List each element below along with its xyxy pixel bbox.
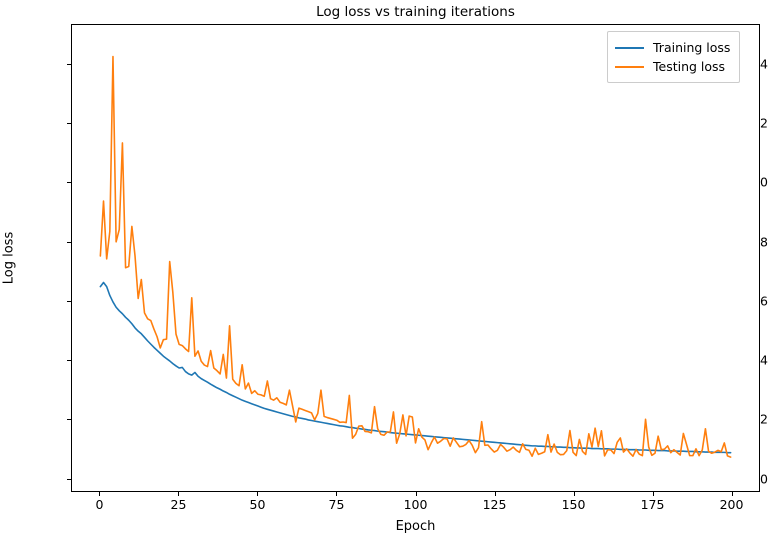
x-axis-tick-label: 25 — [148, 497, 208, 512]
legend-swatch-testing-loss — [615, 66, 644, 68]
x-axis-tick-label: 175 — [623, 497, 683, 512]
plot-lines — [72, 25, 759, 491]
page-title: Log loss vs training iterations — [71, 4, 760, 20]
x-axis-tick-label: 75 — [306, 497, 366, 512]
series-line-training-loss — [100, 282, 730, 452]
legend[interactable]: Training loss Testing loss — [607, 31, 740, 83]
x-axis-tick-mark — [653, 492, 654, 496]
y-axis-label-container: Log loss — [0, 24, 18, 492]
legend-item-training-loss[interactable]: Training loss — [615, 38, 730, 57]
x-axis-label: Epoch — [71, 519, 760, 534]
x-axis-tick-mark — [416, 492, 417, 496]
legend-swatch-training-loss — [615, 47, 644, 49]
x-axis-tick-mark — [99, 492, 100, 496]
x-axis-tick-mark — [574, 492, 575, 496]
x-axis-tick-mark — [178, 492, 179, 496]
series-line-testing-loss — [100, 57, 730, 458]
plot-area — [71, 24, 760, 492]
y-axis-label: Log loss — [2, 232, 17, 284]
x-axis-tick-label: 200 — [702, 497, 762, 512]
figure-canvas: Log loss vs training iterations Log loss… — [0, 0, 768, 547]
legend-item-testing-loss[interactable]: Testing loss — [615, 57, 730, 76]
legend-label-testing-loss: Testing loss — [653, 59, 725, 74]
x-axis-tick-mark — [732, 492, 733, 496]
x-axis-tick-label: 150 — [544, 497, 604, 512]
x-axis-tick-label: 50 — [227, 497, 287, 512]
x-axis-tick-mark — [336, 492, 337, 496]
x-axis-tick-label: 0 — [69, 497, 129, 512]
x-axis-tick-mark — [495, 492, 496, 496]
legend-label-training-loss: Training loss — [653, 40, 730, 55]
x-axis-tick-label: 125 — [465, 497, 525, 512]
x-axis-tick-mark — [257, 492, 258, 496]
x-axis-tick-label: 100 — [386, 497, 446, 512]
